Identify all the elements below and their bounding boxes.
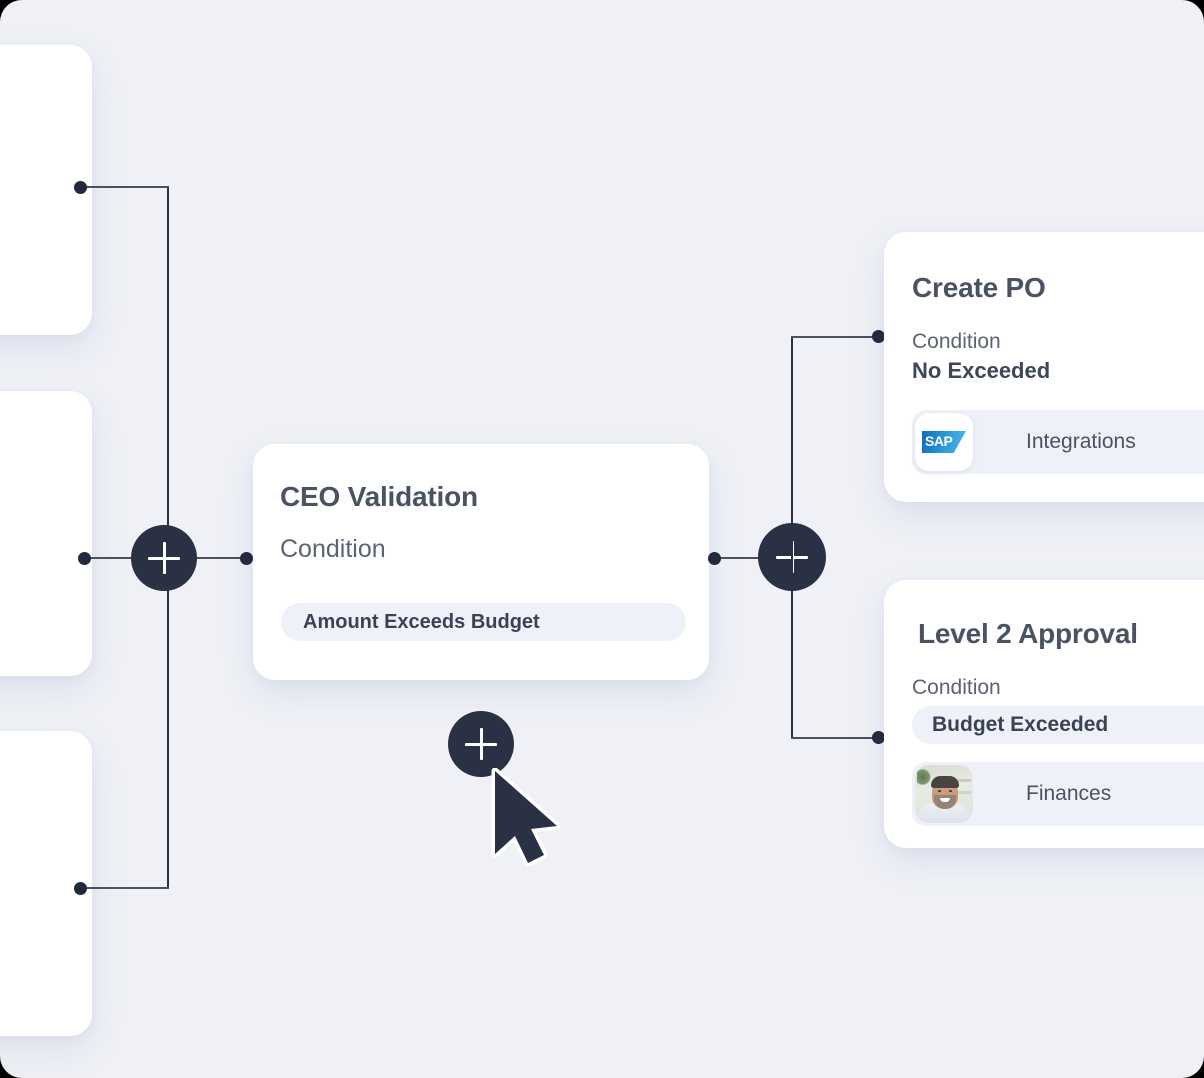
condition-pill-budget-exceeded[interactable]: Budget Exceeded: [912, 706, 1204, 744]
avatar-eye-left: [938, 790, 941, 792]
connector-dot-ceo-in: [240, 552, 253, 565]
condition-pill-label: Budget Exceeded: [932, 713, 1108, 737]
avatar-bg-plant: [917, 769, 931, 785]
sap-logo-text: SAP: [925, 433, 952, 450]
connector-dot-left-bottom: [74, 882, 87, 895]
card-subtitle-condition: Condition: [912, 330, 1001, 354]
connector-right-branch-bottom: [791, 737, 879, 739]
mouse-cursor-arrow-icon: [489, 768, 579, 868]
assignee-row-integrations[interactable]: SAP Integrations: [912, 410, 1204, 474]
card-condition-value-no-exceeded: No Exceeded: [912, 358, 1050, 384]
connector-dot-left-middle: [78, 552, 91, 565]
assignee-label-integrations: Integrations: [1026, 430, 1136, 454]
node-card-create-po[interactable]: Create PO Condition No Exceeded SAP Inte…: [884, 232, 1204, 502]
connector-dot-left-top: [74, 181, 87, 194]
card-subtitle-condition: Condition: [912, 676, 1001, 700]
assignee-row-finances[interactable]: Finances: [912, 762, 1204, 826]
card-title-level-2-approval: Level 2 Approval: [918, 618, 1138, 650]
user-avatar-photo: [915, 765, 973, 823]
add-step-button-left[interactable]: [131, 525, 197, 591]
connector-right-branch-top: [791, 336, 879, 338]
sap-logo-icon: SAP: [922, 431, 966, 453]
card-title-ceo-validation: CEO Validation: [280, 481, 478, 513]
node-card-level-2-approval[interactable]: Level 2 Approval Condition Budget Exceed…: [884, 580, 1204, 848]
connector-left-branch-bottom: [82, 887, 169, 889]
assignee-icon-tile: SAP: [915, 413, 973, 471]
card-subtitle-condition: Condition: [280, 535, 386, 564]
condition-pill-amount-exceeds-budget[interactable]: Amount Exceeds Budget: [281, 603, 686, 641]
plus-icon-vertical-bar: [480, 728, 483, 760]
card-title-create-po: Create PO: [912, 272, 1046, 304]
offscreen-card-middle[interactable]: [0, 391, 92, 676]
connector-left-branch-top: [82, 186, 169, 188]
add-step-button-below[interactable]: [448, 711, 514, 777]
connector-dot-right-in: [708, 552, 721, 565]
workflow-canvas[interactable]: CEO Validation Condition Amount Exceeds …: [0, 0, 1204, 1078]
node-card-ceo-validation[interactable]: CEO Validation Condition Amount Exceeds …: [253, 444, 709, 680]
connector-right-trunk: [791, 336, 793, 738]
plus-icon-vertical-bar: [163, 542, 166, 574]
avatar-eye-right: [949, 790, 952, 792]
assignee-avatar-tile: [915, 765, 973, 823]
assignee-label-finances: Finances: [1026, 782, 1111, 806]
avatar-hair: [931, 776, 959, 788]
condition-pill-label: Amount Exceeds Budget: [303, 611, 540, 634]
